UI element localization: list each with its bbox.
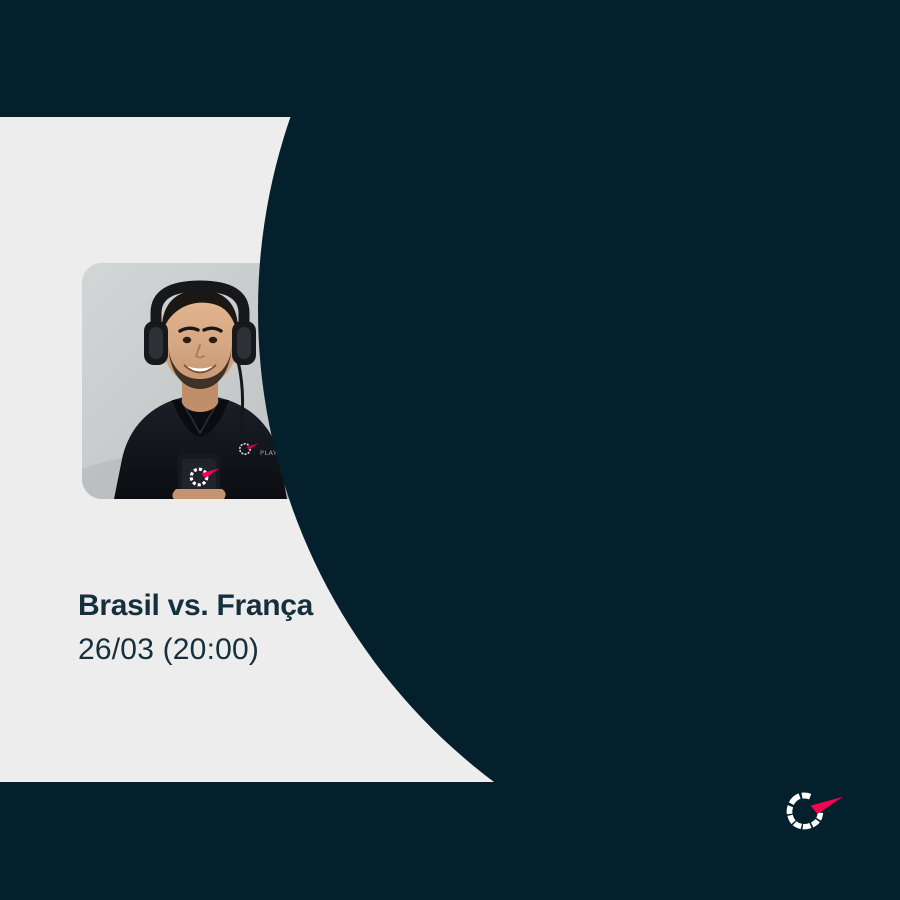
broadcast-announcement-card: PLAYMAKER xyxy=(0,0,900,900)
brand-logo-icon xyxy=(781,784,843,842)
bottom-arc-shape xyxy=(258,0,900,900)
